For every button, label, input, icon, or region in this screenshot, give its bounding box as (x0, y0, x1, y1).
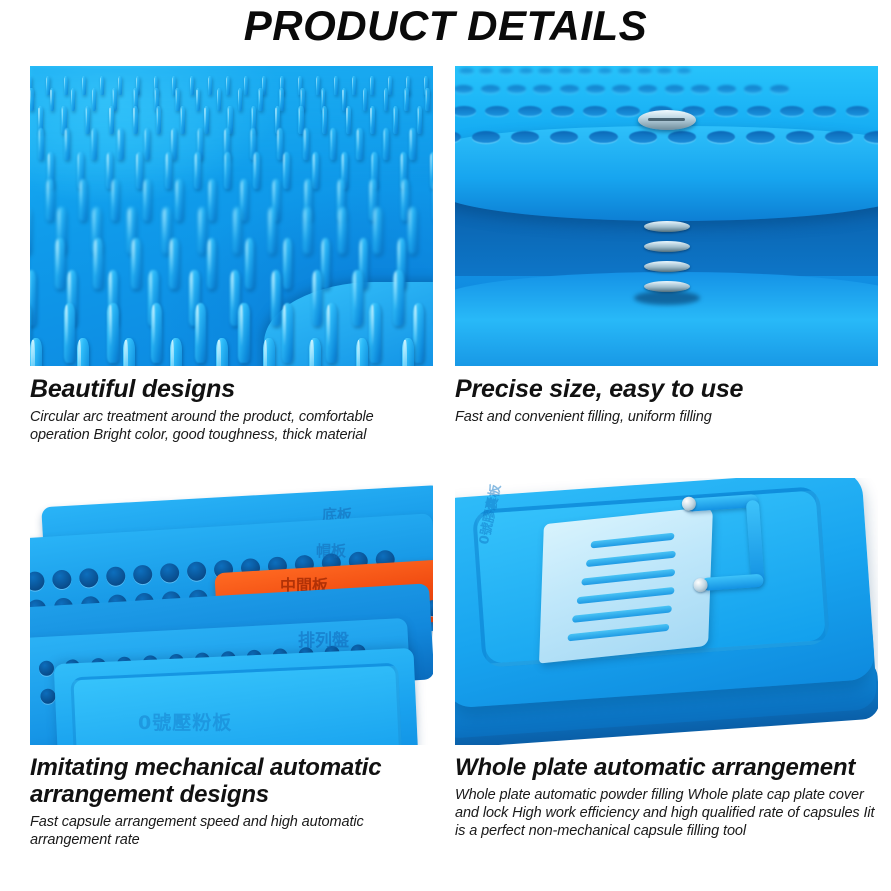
card-heading: Imitating mechanical automatic arrangeme… (30, 754, 433, 808)
plate-hole (79, 568, 99, 588)
silicone-pin (238, 303, 249, 363)
silicone-pin (356, 338, 368, 366)
silicone-pin (92, 88, 96, 112)
plate-hole (499, 68, 513, 74)
plate-hole (638, 85, 657, 93)
silicone-pin (117, 128, 123, 161)
plate-hole (846, 106, 870, 116)
silicone-pin (180, 106, 185, 134)
silicone-pin (30, 207, 31, 254)
screw-thread-4 (644, 281, 690, 292)
silicone-pin (238, 88, 242, 112)
silicone-pin (118, 76, 122, 95)
silicone-pin-mat-photo (30, 66, 433, 366)
silicone-pin (217, 88, 221, 112)
plate-hole (558, 68, 572, 74)
plate-hole (455, 85, 473, 93)
plate-hole (746, 131, 774, 143)
plate-hole (455, 106, 476, 116)
silicone-pin (303, 207, 312, 254)
front-powder-press-plate (54, 648, 419, 745)
silicone-pin (393, 270, 403, 326)
screw-thread-1 (644, 221, 690, 232)
plate-hole (677, 68, 691, 74)
plate-hole (770, 85, 789, 93)
card-body: Whole plate automatic powder filling Who… (455, 786, 878, 840)
silicone-pin (194, 152, 201, 189)
silicone-pin (169, 238, 179, 289)
silicone-pin (156, 106, 161, 134)
screw-head-icon (638, 110, 696, 130)
detail-card-imitating-mechanical: 底板 帽板 中間板 排列盤 0號壓粉板 Imitating mechanical… (30, 478, 433, 849)
silicone-pin (271, 270, 281, 326)
silicone-pin (82, 76, 86, 95)
silicone-pin (64, 303, 75, 363)
silicone-pin (85, 106, 90, 134)
silicone-pin (282, 303, 293, 363)
silicone-pin (77, 338, 89, 366)
plate-hole (481, 85, 500, 93)
silicone-pin (190, 76, 194, 95)
silicone-pin (312, 270, 322, 326)
silicone-pin (370, 106, 375, 134)
card-body: Fast capsule arrangement speed and high … (30, 813, 433, 849)
plate-hole (747, 106, 771, 116)
plate-hole (538, 68, 552, 74)
silicone-pin (100, 76, 104, 95)
plate-hole (717, 85, 736, 93)
plate-hole (825, 131, 853, 143)
silicone-pin (373, 207, 382, 254)
silicone-pin (363, 88, 367, 112)
silicone-pin (224, 152, 231, 189)
silicone-pin (93, 238, 103, 289)
plate-hole (629, 131, 657, 143)
silicone-pin (79, 179, 87, 221)
silicone-pin (143, 179, 151, 221)
plate-hole (786, 131, 814, 143)
detail-card-precise-size: Precise size, easy to use Fast and conve… (455, 66, 878, 426)
plate-hole (479, 68, 493, 74)
silicone-pin (198, 207, 207, 254)
emboss-label-powder-press-plate: 0號壓粉板 (138, 708, 232, 735)
plate-hole (714, 106, 738, 116)
silicone-pin (402, 338, 414, 366)
silicone-pin (64, 128, 70, 161)
silicone-pin (326, 303, 337, 363)
plate-hole (160, 563, 180, 583)
silicone-pin (268, 207, 277, 254)
plate-hole (780, 106, 804, 116)
silicone-pin (204, 106, 209, 134)
screw-thread-2 (644, 241, 690, 252)
silicone-pin (413, 303, 424, 363)
card-heading: Beautiful designs (30, 375, 433, 403)
silicone-pin (46, 179, 54, 221)
silicone-pin (312, 152, 319, 189)
silicone-pin (216, 338, 228, 366)
silicone-pin (30, 88, 34, 112)
card-heading: Whole plate automatic arrangement (455, 754, 878, 781)
plate-hole (533, 85, 552, 93)
silicone-pin (409, 128, 415, 161)
plate-hole (459, 68, 473, 74)
plate-hole (550, 131, 578, 143)
silicone-pin (321, 238, 331, 289)
card-body: Circular arc treatment around the produc… (30, 408, 433, 444)
silicone-pin (283, 238, 293, 289)
silicone-pin (233, 207, 242, 254)
plate-hole (551, 106, 575, 116)
silicone-pin (175, 88, 179, 112)
silicone-pin (370, 76, 374, 95)
silicone-pin (50, 88, 54, 112)
silicone-pin (240, 179, 248, 221)
silicone-pin (244, 76, 248, 95)
emboss-label-arrangement-tray: 排列盤 (298, 626, 349, 651)
silicone-pin (175, 179, 183, 221)
silicone-pin (136, 152, 143, 189)
silicone-pin (404, 88, 408, 112)
plate-hole (518, 106, 542, 116)
plate-hole (707, 131, 735, 143)
plate-hole (507, 85, 526, 93)
plate-hole (598, 68, 612, 74)
silicone-pin (226, 76, 230, 95)
silicone-pin (207, 238, 217, 289)
silicone-pin (111, 179, 119, 221)
silicone-pin (338, 207, 347, 254)
plate-hole (583, 106, 607, 116)
plate-hole (519, 68, 533, 74)
silicone-pin (107, 303, 118, 363)
silicone-pin (123, 338, 135, 366)
plate-hole (472, 131, 500, 143)
plate-hole (187, 561, 207, 581)
silicone-pin (195, 303, 206, 363)
silicone-pin (316, 76, 320, 95)
silicone-pin (263, 338, 275, 366)
plate-hole (30, 571, 45, 591)
plate-hole (691, 85, 710, 93)
plate-hole (586, 85, 605, 93)
silicone-pin (417, 106, 422, 134)
plate-hole (612, 85, 631, 93)
card-heading: Precise size, easy to use (455, 375, 878, 403)
plate-hole (637, 68, 651, 74)
silicone-pin (330, 128, 336, 161)
plate-hole (744, 85, 763, 93)
silicone-pin (170, 338, 182, 366)
plate-hole (668, 131, 696, 143)
silicone-pin (388, 76, 392, 95)
whole-plate-assembly-photo: 0號膠囊板 (455, 478, 878, 745)
plate-hole (864, 131, 878, 143)
locking-bar[interactable] (678, 493, 781, 601)
silicone-pin (425, 88, 429, 112)
silicone-pin (151, 303, 162, 363)
product-details-page: PRODUCT DETAILS Beautiful designs Circul… (0, 0, 891, 891)
silicone-pin (383, 128, 389, 161)
plate-hole (616, 106, 640, 116)
plate-hole (52, 569, 72, 589)
silicone-pin (283, 152, 290, 189)
plate-hole (618, 68, 632, 74)
silicone-pin (303, 128, 309, 161)
plate-hole (589, 131, 617, 143)
silicone-pin (38, 128, 44, 161)
silicone-pin (109, 106, 114, 134)
silicone-pin (131, 238, 141, 289)
silicone-pin (352, 270, 362, 326)
silicone-pin (384, 88, 388, 112)
plate-hole (133, 565, 153, 585)
silicone-pin (55, 238, 65, 289)
silicone-pin (133, 106, 138, 134)
silicone-pin (208, 76, 212, 95)
plate-hole (485, 106, 509, 116)
silicone-pin (334, 76, 338, 95)
silicone-pin (346, 106, 351, 134)
screw-thread-3 (644, 261, 690, 272)
emboss-label-cap-plate: 帽板 (316, 540, 346, 561)
silicone-pin (253, 152, 260, 189)
card-body: Fast and convenient filling, uniform fil… (455, 408, 878, 426)
silicone-pin (245, 238, 255, 289)
plate-hole (455, 131, 461, 143)
silicone-pin (277, 128, 283, 161)
screw-post-closeup-photo (455, 66, 878, 366)
silicone-pin (352, 76, 356, 95)
screw-shadow (634, 291, 700, 305)
plate-hole (665, 85, 684, 93)
silicone-pin (279, 88, 283, 112)
silicone-pin (393, 106, 398, 134)
plate-hole (511, 131, 539, 143)
page-title: PRODUCT DETAILS (0, 0, 891, 58)
plate-hole (40, 688, 56, 704)
plate-hole (657, 68, 671, 74)
silicone-pin (369, 303, 380, 363)
silicone-pin (71, 88, 75, 112)
silicone-pin (258, 88, 262, 112)
plate-hole (39, 660, 55, 676)
silicone-pin (196, 88, 200, 112)
detail-card-whole-plate: 0號膠囊板 Whole plate automatic arrangement … (455, 478, 878, 840)
silicone-pin (91, 128, 97, 161)
silicone-pin (64, 76, 68, 95)
silicone-pin (144, 128, 150, 161)
plate-hole (813, 106, 837, 116)
silicone-pin (309, 338, 321, 366)
silicone-pin (165, 152, 172, 189)
silicone-pin (356, 128, 362, 161)
silicone-pin (30, 338, 42, 366)
stacked-plates-photo: 底板 帽板 中間板 排列盤 0號壓粉板 (30, 478, 433, 745)
silicone-pin (208, 179, 216, 221)
silicone-pin (322, 106, 327, 134)
detail-card-beautiful-designs: Beautiful designs Circular arc treatment… (30, 66, 433, 444)
plate-hole (560, 85, 579, 93)
plate-hole (106, 566, 126, 586)
silicone-pin (408, 207, 417, 254)
plate-hole (578, 68, 592, 74)
